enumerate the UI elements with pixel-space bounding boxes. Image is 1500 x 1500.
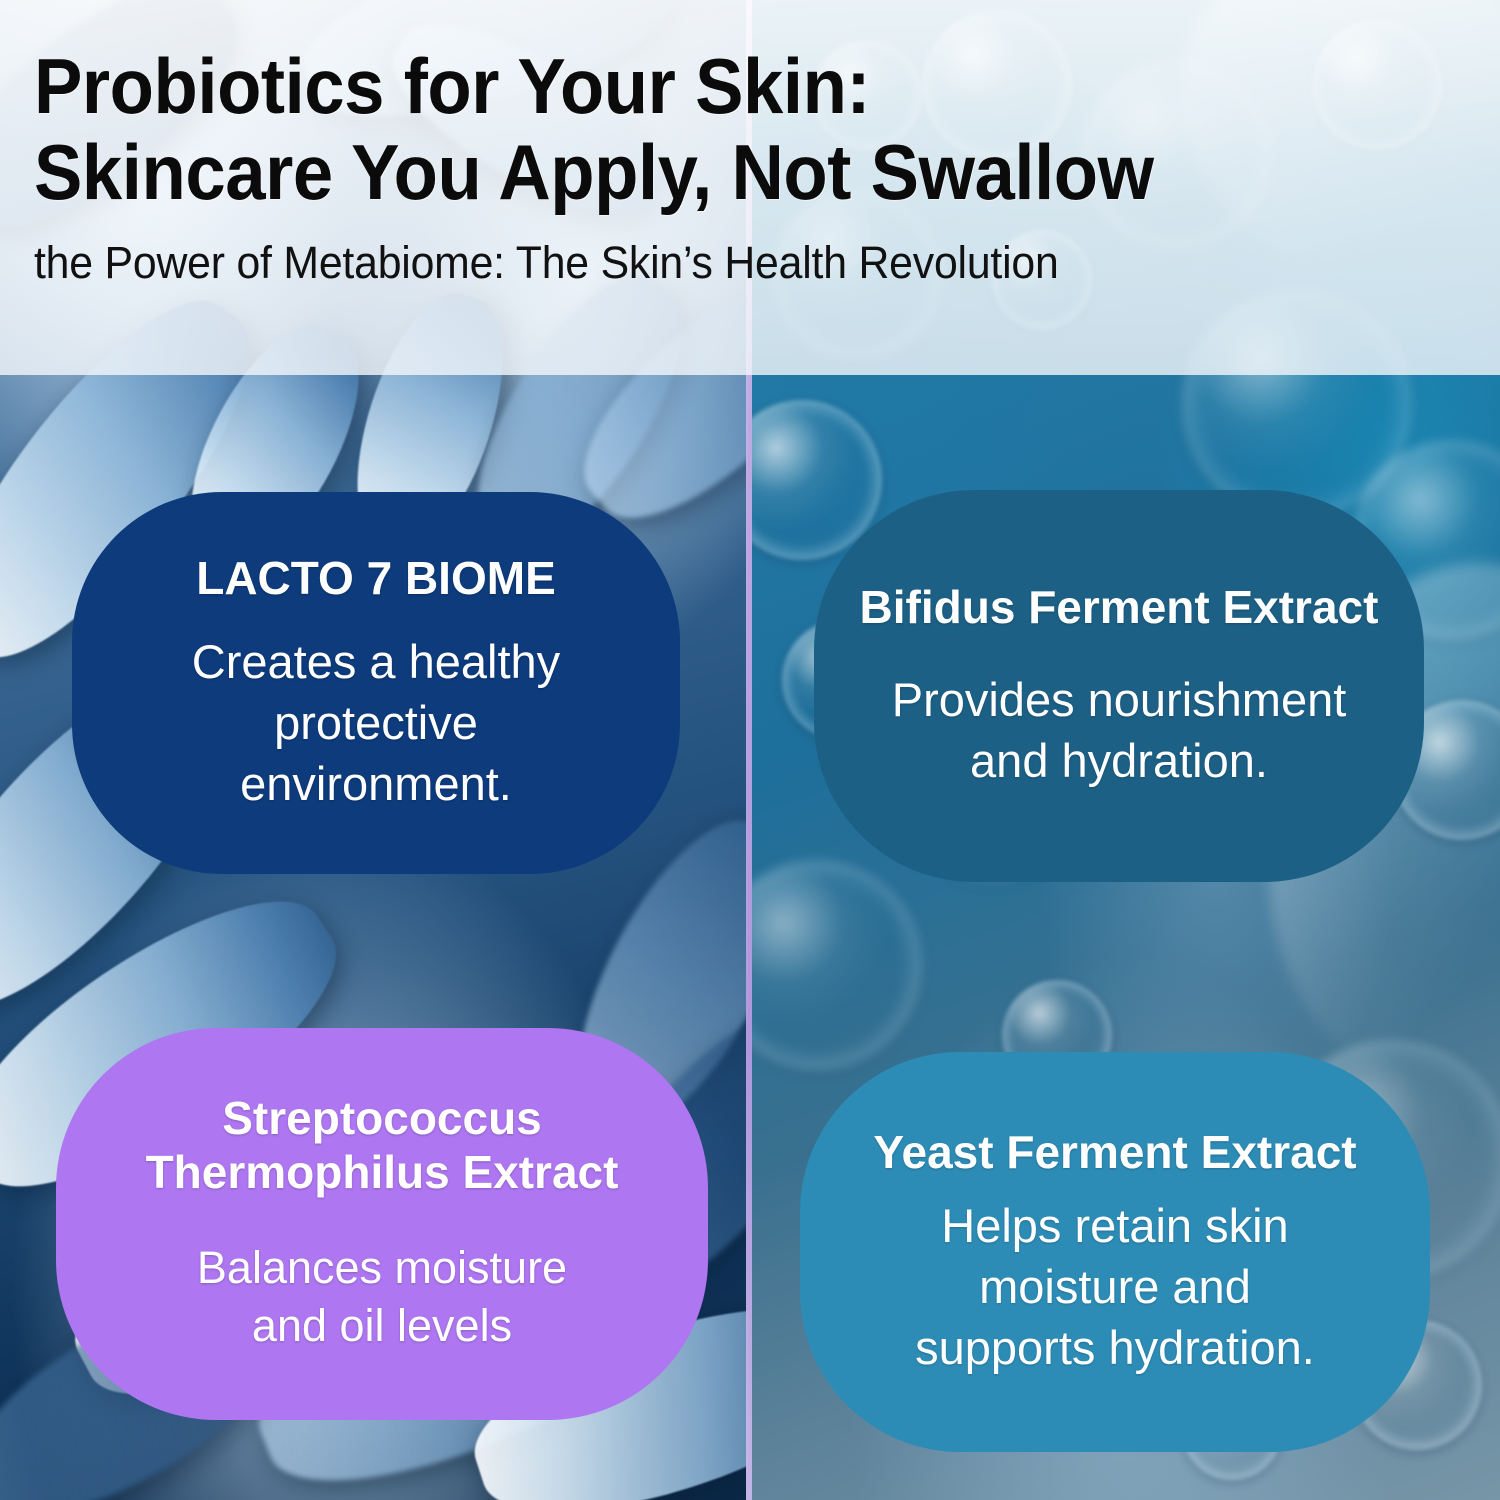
card-description-line: Creates a healthy xyxy=(192,631,560,692)
headline-line-2: Skincare You Apply, Not Swallow xyxy=(34,130,1364,216)
card-title-line: Streptococcus xyxy=(146,1092,619,1145)
card-description-line: moisture and xyxy=(915,1256,1315,1317)
card-description-line: Provides nourishment xyxy=(892,669,1347,730)
card-description-line: and hydration. xyxy=(892,730,1347,791)
card-streptococcus-thermophilus-extract[interactable]: Streptococcus Thermophilus Extract Balan… xyxy=(56,1028,708,1420)
card-description-line: and oil levels xyxy=(197,1297,567,1356)
card-yeast-ferment-extract[interactable]: Yeast Ferment Extract Helps retain skin … xyxy=(800,1052,1430,1452)
card-description-line: Helps retain skin xyxy=(915,1195,1315,1256)
card-lacto-7-biome[interactable]: LACTO 7 BIOME Creates a healthy protecti… xyxy=(72,492,680,874)
card-title: Yeast Ferment Extract xyxy=(873,1126,1356,1179)
card-description: Provides nourishment and hydration. xyxy=(892,669,1347,791)
card-bifidus-ferment-extract[interactable]: Bifidus Ferment Extract Provides nourish… xyxy=(814,490,1424,882)
card-description: Balances moisture and oil levels xyxy=(197,1239,567,1356)
card-title: Bifidus Ferment Extract xyxy=(860,581,1379,634)
card-title: Streptococcus Thermophilus Extract xyxy=(146,1092,619,1199)
headline-line-1: Probiotics for Your Skin: xyxy=(34,44,1364,130)
card-description-line: protective xyxy=(192,692,560,753)
subheadline: the Power of Metabiome: The Skin’s Healt… xyxy=(34,238,1393,288)
card-title: LACTO 7 BIOME xyxy=(196,552,556,605)
card-description-line: environment. xyxy=(192,753,560,814)
header-band: Probiotics for Your Skin: Skincare You A… xyxy=(0,0,1500,375)
card-description-line: Balances moisture xyxy=(197,1239,567,1298)
card-description: Helps retain skin moisture and supports … xyxy=(915,1195,1315,1378)
card-description: Creates a healthy protective environment… xyxy=(192,631,560,814)
card-description-line: supports hydration. xyxy=(915,1317,1315,1378)
infographic-canvas: Probiotics for Your Skin: Skincare You A… xyxy=(0,0,1500,1500)
card-title-line: Thermophilus Extract xyxy=(146,1146,619,1199)
